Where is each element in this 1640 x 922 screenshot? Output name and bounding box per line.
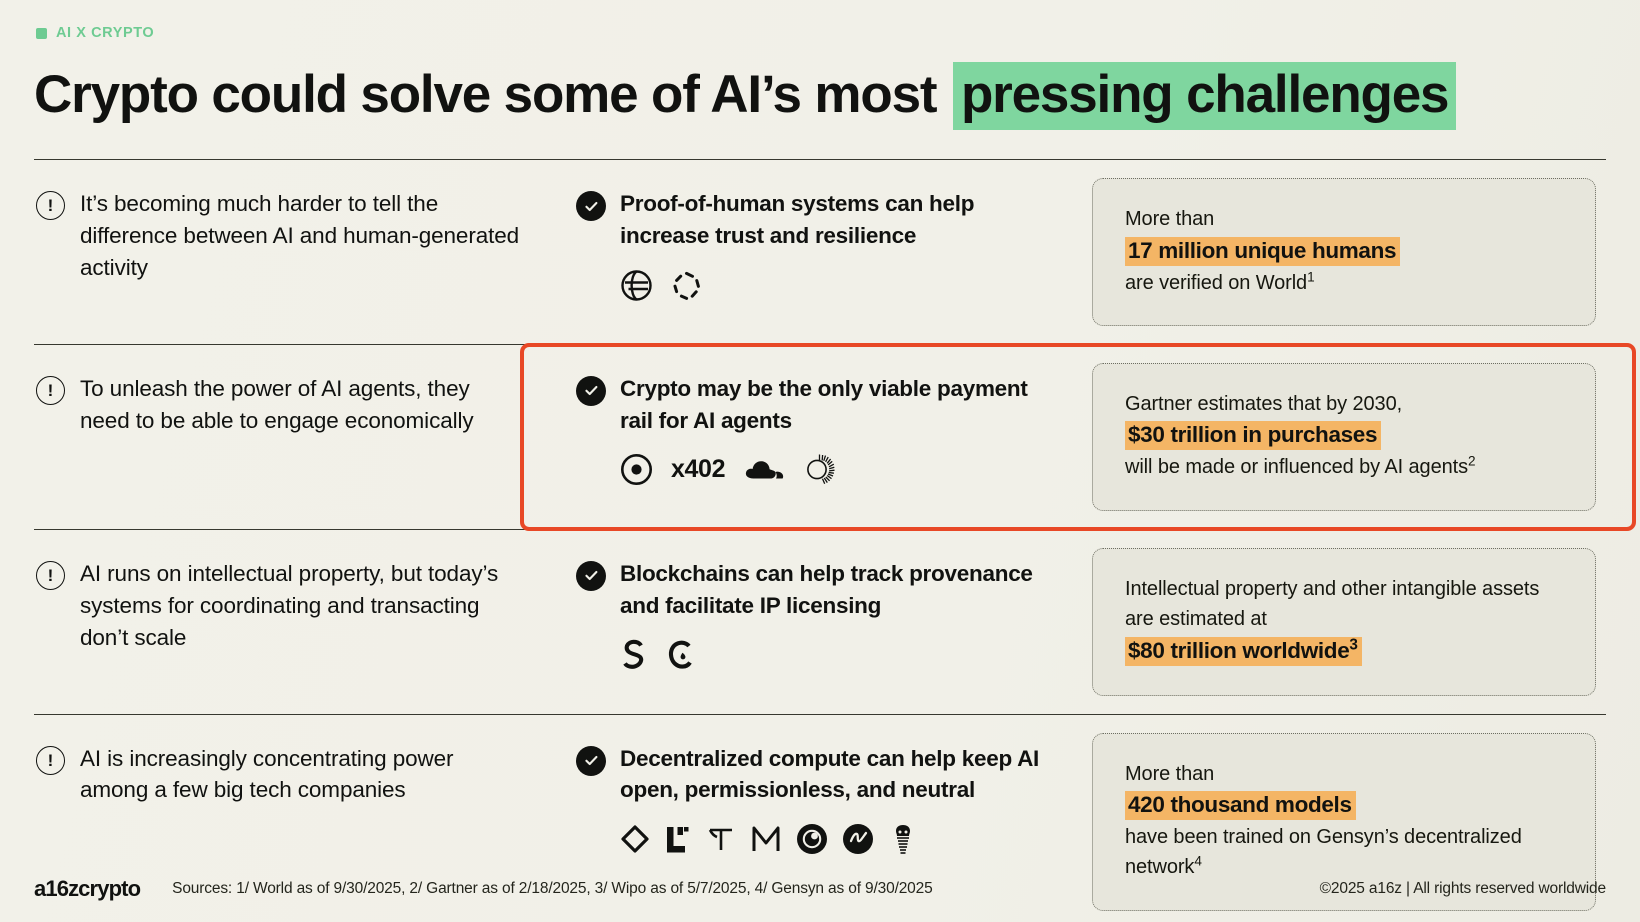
solution-text: Decentralized compute can help keep AI o… — [620, 743, 1062, 807]
stat-card: Intellectual property and other intangib… — [1092, 548, 1596, 696]
headline-highlight: pressing challenges — [953, 62, 1456, 130]
comparison-table: ! It’s becoming much harder to tell the … — [34, 159, 1606, 922]
stat-post: have been trained on Gensyn’s decentrali… — [1125, 822, 1567, 883]
exclamation-icon: ! — [36, 746, 65, 775]
diamond-logo — [620, 824, 650, 854]
nous-research-logo — [750, 824, 782, 854]
solution-cell: Blockchains can help track provenance an… — [554, 530, 1084, 699]
camp-network-logo — [665, 638, 695, 671]
stat-pre: More than — [1125, 759, 1567, 789]
problem-text: AI runs on intellectual property, but to… — [80, 558, 524, 654]
stat-card: Gartner estimates that by 2030, $30 tril… — [1092, 363, 1596, 511]
solution-text: Proof-of-human systems can help increase… — [620, 188, 1062, 252]
together-logo — [706, 824, 736, 854]
copyright-text: ©2025 a16z | All rights reserved worldwi… — [1320, 880, 1606, 898]
problem-cell: ! To unleash the power of AI agents, the… — [34, 345, 554, 461]
eyebrow-dot-icon — [36, 28, 47, 39]
check-circle-icon — [576, 746, 606, 776]
check-circle-icon — [576, 376, 606, 406]
eyebrow-label: AI X CRYPTO — [56, 25, 154, 41]
x402-wordmark: x402 — [671, 455, 725, 484]
partner-logos — [576, 635, 1062, 675]
exclamation-icon: ! — [36, 561, 65, 590]
prime-intellect-logo — [842, 823, 874, 855]
solution-cell: Decentralized compute can help keep AI o… — [554, 715, 1084, 884]
stat-footnote: 2 — [1468, 454, 1475, 469]
stat-post: are verified on World1 — [1125, 268, 1567, 298]
story-protocol-logo — [620, 638, 647, 671]
humanity-protocol-logo — [671, 270, 702, 301]
stat-highlight: $30 trillion in purchases — [1125, 421, 1381, 450]
check-circle-icon — [576, 191, 606, 221]
stat-cell: Intellectual property and other intangib… — [1084, 530, 1606, 714]
stat-post: will be made or influenced by AI agents2 — [1125, 452, 1567, 482]
stat-post-text: will be made or influenced by AI agents — [1125, 456, 1468, 478]
skyfire-logo — [803, 453, 836, 486]
stat-highlight-text: $80 trillion worldwide — [1128, 638, 1349, 663]
table-row: ! AI runs on intellectual property, but … — [34, 529, 1606, 714]
problem-text: To unleash the power of AI agents, they … — [80, 373, 524, 437]
headline-plain: Crypto could solve some of AI’s most — [34, 65, 950, 124]
a16zcrypto-logo: a16zcrypto — [34, 876, 140, 902]
stat-post-text: have been trained on Gensyn’s decentrali… — [1125, 826, 1522, 878]
infographic-page: AI X CRYPTO Crypto could solve some of A… — [0, 0, 1640, 922]
partner-logos — [576, 819, 1062, 859]
solution-text: Blockchains can help track provenance an… — [620, 558, 1062, 622]
eyebrow: AI X CRYPTO — [34, 0, 1606, 41]
problem-text: AI is increasingly concentrating power a… — [80, 743, 524, 807]
stat-footnote: 1 — [1307, 269, 1314, 284]
stat-pre: Gartner estimates that by 2030, — [1125, 389, 1567, 419]
gensyn-logo — [888, 823, 918, 855]
partner-logos: x402 — [576, 450, 1062, 490]
problem-cell: ! AI is increasingly concentrating power… — [34, 715, 554, 831]
exclamation-icon: ! — [36, 376, 65, 405]
page-title: Crypto could solve some of AI’s most pre… — [34, 67, 1606, 123]
problem-cell: ! It’s becoming much harder to tell the … — [34, 160, 554, 308]
table-row-highlighted: ! To unleash the power of AI agents, the… — [34, 344, 1606, 529]
footer: a16zcrypto Sources: 1/ World as of 9/30/… — [34, 876, 1606, 902]
stat-highlight: $80 trillion worldwide3 — [1125, 637, 1362, 666]
exclamation-icon: ! — [36, 191, 65, 220]
problem-cell: ! AI runs on intellectual property, but … — [34, 530, 554, 678]
sources-text: Sources: 1/ World as of 9/30/2025, 2/ Ga… — [172, 880, 1287, 898]
coinbase-logo — [620, 453, 653, 486]
stat-footnote: 3 — [1349, 636, 1357, 653]
io-net-logo — [796, 823, 828, 855]
solution-text: Crypto may be the only viable payment ra… — [620, 373, 1062, 437]
stat-post-text: are verified on World — [1125, 272, 1307, 294]
stat-card: More than 17 million unique humans are v… — [1092, 178, 1596, 326]
partner-logos — [576, 265, 1062, 305]
stat-pre: Intellectual property and other intangib… — [1125, 574, 1567, 635]
cloudflare-logo — [743, 457, 785, 483]
world-logo — [620, 269, 653, 302]
table-row: ! It’s becoming much harder to tell the … — [34, 159, 1606, 344]
stat-cell: More than 17 million unique humans are v… — [1084, 160, 1606, 344]
problem-text: It’s becoming much harder to tell the di… — [80, 188, 524, 284]
stat-cell: Gartner estimates that by 2030, $30 tril… — [1084, 345, 1606, 529]
stat-footnote: 4 — [1194, 854, 1201, 869]
stat-highlight: 17 million unique humans — [1125, 237, 1400, 266]
stat-highlight: 420 thousand models — [1125, 791, 1356, 820]
check-circle-icon — [576, 561, 606, 591]
solution-cell: Proof-of-human systems can help increase… — [554, 160, 1084, 329]
lilypad-logo — [664, 824, 692, 854]
solution-cell: Crypto may be the only viable payment ra… — [554, 345, 1084, 514]
stat-pre: More than — [1125, 204, 1567, 234]
